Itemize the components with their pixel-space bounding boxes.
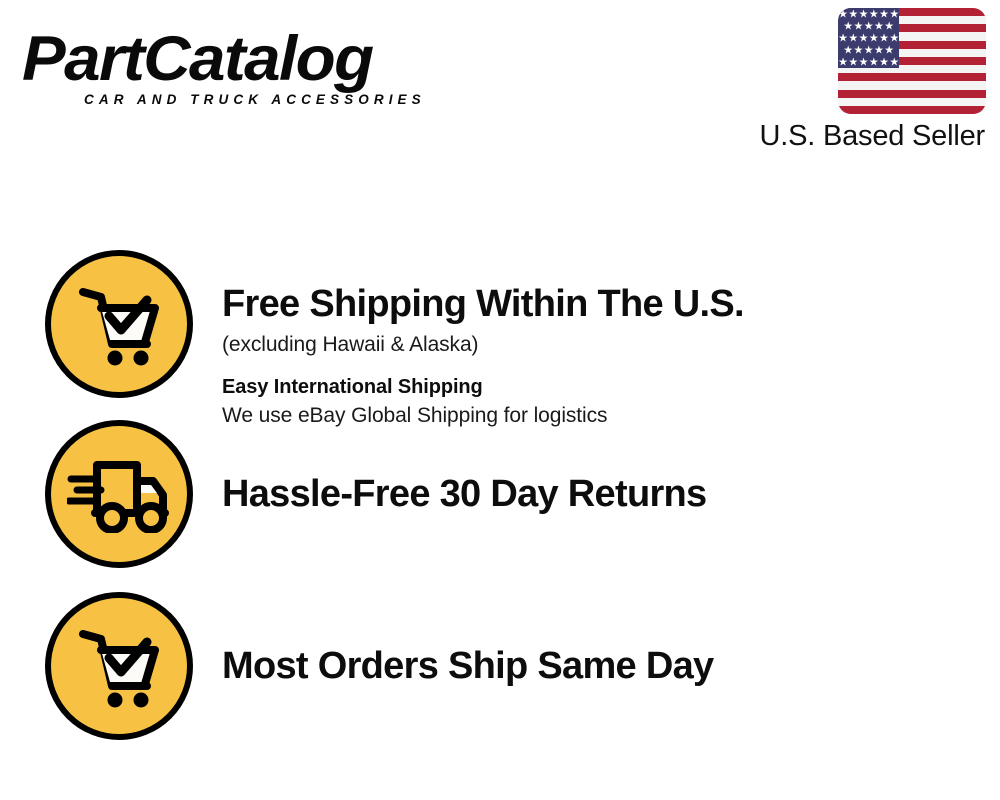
flag-star: ★ — [843, 21, 853, 32]
flag-star: ★ — [889, 57, 899, 68]
feature-subhead: Easy International Shipping — [222, 374, 1000, 400]
us-flag-icon: ★★★★★★★★★★★★★★★★★★★★★★★★★★★★ — [838, 8, 986, 114]
feature-row: Hassle-Free 30 Day Returns — [0, 420, 1000, 572]
flag-star: ★ — [859, 57, 869, 68]
flag-star: ★ — [874, 45, 884, 56]
flag-star: ★ — [838, 33, 848, 44]
flag-star: ★ — [869, 9, 879, 20]
feature-headline: Most Orders Ship Same Day — [222, 644, 1000, 688]
flag-star: ★ — [869, 57, 879, 68]
feature-subline: (excluding Hawaii & Alaska) — [222, 331, 1000, 358]
flag-star: ★ — [859, 9, 869, 20]
flag-star: ★ — [889, 33, 899, 44]
shopping-cart-check-icon — [45, 250, 193, 398]
flag-star: ★ — [879, 9, 889, 20]
flag-star: ★ — [848, 57, 858, 68]
shopping-cart-check-icon — [45, 592, 193, 740]
feature-text: Most Orders Ship Same Day — [222, 592, 1000, 688]
feature-row: Free Shipping Within The U.S. (excluding… — [0, 250, 1000, 410]
flag-star: ★ — [874, 21, 884, 32]
flag-star: ★ — [864, 45, 874, 56]
flag-star: ★ — [884, 45, 894, 56]
flag-star: ★ — [859, 33, 869, 44]
feature-headline: Hassle-Free 30 Day Returns — [222, 472, 1000, 516]
flag-star: ★ — [848, 9, 858, 20]
feature-text: Hassle-Free 30 Day Returns — [222, 420, 1000, 516]
flag-canton: ★★★★★★★★★★★★★★★★★★★★★★★★★★★★ — [838, 8, 899, 68]
flag-star: ★ — [848, 33, 858, 44]
flag-stripe — [838, 106, 986, 114]
flag-star: ★ — [838, 57, 848, 68]
us-based-seller-label: U.S. Based Seller — [726, 118, 986, 154]
flag-star: ★ — [843, 45, 853, 56]
flag-star: ★ — [884, 21, 894, 32]
feature-headline: Free Shipping Within The U.S. — [222, 282, 1000, 326]
flag-star: ★ — [864, 21, 874, 32]
brand-logo: PartCatalog CAR AND TRUCK ACCESSORIES — [22, 24, 502, 124]
feature-row: Most Orders Ship Same Day — [0, 592, 1000, 744]
flag-star: ★ — [879, 33, 889, 44]
flag-star: ★ — [854, 45, 864, 56]
flag-star: ★ — [869, 33, 879, 44]
flag-star: ★ — [838, 9, 848, 20]
brand-tagline: CAR AND TRUCK ACCESSORIES — [84, 92, 426, 108]
feature-text: Free Shipping Within The U.S. (excluding… — [222, 250, 1000, 430]
flag-star: ★ — [879, 57, 889, 68]
banner-header: PartCatalog CAR AND TRUCK ACCESSORIES ★★… — [0, 0, 1000, 170]
delivery-truck-icon — [45, 420, 193, 568]
us-based-seller-badge: ★★★★★★★★★★★★★★★★★★★★★★★★★★★★ U.S. Based … — [726, 8, 986, 158]
flag-star: ★ — [854, 21, 864, 32]
flag-star: ★ — [889, 9, 899, 20]
brand-wordmark: PartCatalog — [22, 24, 521, 94]
